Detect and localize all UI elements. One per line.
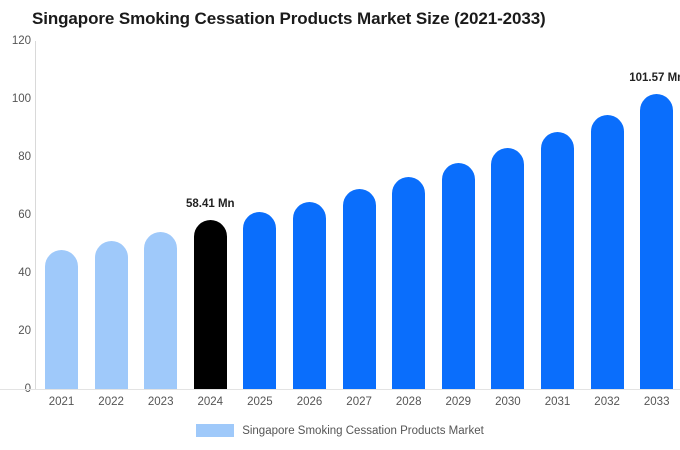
bar[interactable] bbox=[491, 148, 524, 389]
x-axis-tick-label: 2033 bbox=[632, 396, 680, 408]
bar[interactable] bbox=[45, 250, 78, 389]
y-axis-tick-label: 60 bbox=[5, 209, 31, 221]
x-axis-tick-label: 2030 bbox=[483, 396, 533, 408]
chart-legend: Singapore Smoking Cessation Products Mar… bbox=[0, 424, 680, 437]
bar[interactable] bbox=[144, 232, 177, 389]
bar[interactable] bbox=[392, 177, 425, 389]
bar[interactable] bbox=[541, 132, 574, 389]
bar-value-label: 58.41 Mn bbox=[186, 198, 235, 210]
legend-item-label: Singapore Smoking Cessation Products Mar… bbox=[242, 425, 484, 437]
legend-swatch-icon bbox=[196, 424, 234, 437]
bar[interactable] bbox=[194, 220, 227, 389]
x-axis-tick-label: 2027 bbox=[334, 396, 384, 408]
bar[interactable] bbox=[591, 115, 624, 389]
bar[interactable] bbox=[243, 212, 276, 389]
y-axis-tick-labels: 020406080100120 bbox=[0, 0, 31, 450]
bar[interactable] bbox=[343, 189, 376, 389]
chart-title: Singapore Smoking Cessation Products Mar… bbox=[32, 9, 546, 29]
x-axis-tick-label: 2024 bbox=[185, 396, 235, 408]
bar[interactable] bbox=[442, 163, 475, 389]
legend-item[interactable]: Singapore Smoking Cessation Products Mar… bbox=[196, 424, 484, 437]
x-axis-tick-label: 2026 bbox=[285, 396, 335, 408]
x-axis-tick-label: 2032 bbox=[582, 396, 632, 408]
x-axis-tick-label: 2023 bbox=[136, 396, 186, 408]
bar[interactable] bbox=[293, 202, 326, 389]
x-axis-tick-label: 2029 bbox=[433, 396, 483, 408]
y-axis-tick-label: 100 bbox=[5, 93, 31, 105]
y-axis-tick-label: 120 bbox=[5, 35, 31, 47]
x-axis-tick-label: 2022 bbox=[86, 396, 136, 408]
bar-value-label: 101.57 Mn bbox=[629, 72, 680, 84]
x-axis-tick-label: 2021 bbox=[37, 396, 87, 408]
bar[interactable] bbox=[95, 241, 128, 389]
x-axis-line bbox=[0, 389, 680, 390]
x-axis-tick-label: 2028 bbox=[384, 396, 434, 408]
bar-chart: Singapore Smoking Cessation Products Mar… bbox=[0, 0, 680, 450]
bar[interactable] bbox=[640, 94, 673, 389]
y-axis-tick-label: 40 bbox=[5, 267, 31, 279]
x-axis-tick-label: 2031 bbox=[533, 396, 583, 408]
y-axis-tick-label: 80 bbox=[5, 151, 31, 163]
y-axis-tick-label: 20 bbox=[5, 325, 31, 337]
x-axis-tick-label: 2025 bbox=[235, 396, 285, 408]
